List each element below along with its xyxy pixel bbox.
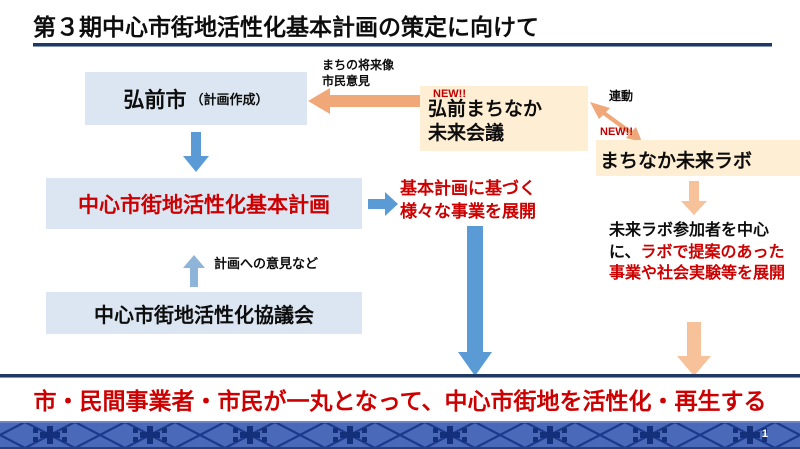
machinaka-mirai-kaigi-box: NEW!! 弘前まちなか 未来会議 [420, 86, 588, 151]
hirosaki-city-box: 弘前市 （計画作成） [85, 72, 307, 125]
projects-line2: 様々な事業を展開 [400, 201, 536, 224]
hirosaki-city-label: 弘前市 [123, 84, 186, 114]
down-arrow-city-to-plan [183, 132, 209, 172]
up-arrow-council-to-plan [183, 255, 205, 287]
kogin-pattern-icon [0, 421, 800, 449]
basic-plan-label: 中心市街地活性化基本計画 [78, 189, 330, 219]
hirosaki-city-sublabel: （計画作成） [190, 89, 268, 108]
kaigi-line2: 未来会議 [428, 122, 588, 146]
machinaka-mirai-lab-box: NEW!! まちなか未来ラボ [596, 140, 800, 176]
title-divider [33, 43, 772, 46]
lab-label: まちなか未来ラボ [596, 140, 800, 173]
future-vision-label: まちの将来像 市民意見 [322, 58, 394, 89]
council-box: 中心市街地活性化協議会 [46, 292, 362, 334]
page-title: 第３期中心市街地活性化基本計画の策定に向けて [33, 8, 539, 42]
new-badge-kaigi: NEW!! [433, 88, 466, 100]
lab-description-text: 未来ラボ参加者を中心に、ラボで提案のあった事業や社会実験等を展開 [609, 219, 799, 284]
council-label: 中心市街地活性化協議会 [94, 299, 314, 328]
big-down-arrow-orange-to-banner [677, 322, 711, 376]
projects-text: 基本計画に基づく 様々な事業を展開 [400, 178, 536, 224]
projects-line1: 基本計画に基づく [400, 178, 536, 201]
kaigi-line1: 弘前まちなか [428, 98, 588, 122]
kogin-pattern-footer [0, 421, 800, 449]
slide-canvas: 第３期中心市街地活性化基本計画の策定に向けて 弘前市 （計画作成） 中心市街地活… [0, 0, 800, 449]
new-badge-lab: NEW!! [600, 126, 633, 138]
big-down-arrow-to-banner [458, 226, 492, 376]
left-arrow-opinions-to-city [308, 88, 420, 114]
basic-plan-box: 中心市街地活性化基本計画 [46, 178, 362, 229]
bottom-divider [0, 374, 800, 377]
page-number: 1 [762, 428, 768, 440]
opinions-label: 計画への意見など [214, 257, 318, 274]
banner-slogan: 市・民間事業者・市民が一丸となって、中心市街地を活性化・再生する [0, 382, 800, 416]
down-arrow-lab-to-desc [681, 181, 707, 215]
future-vision-line2: 市民意見 [322, 74, 394, 90]
right-arrow-plan-to-projects [368, 192, 398, 216]
future-vision-line1: まちの将来像 [322, 58, 394, 74]
